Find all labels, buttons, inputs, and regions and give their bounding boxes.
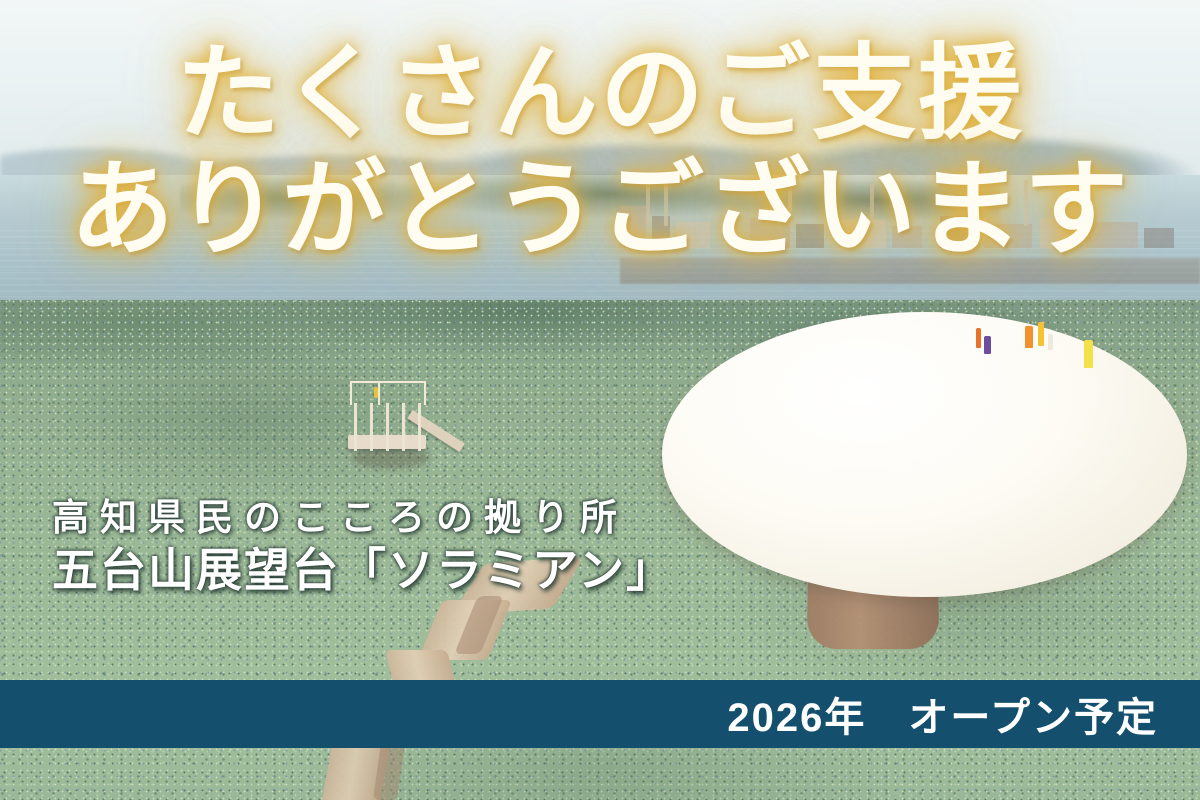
subtitle-line-1: 高知県民のこころの拠り所 (52, 494, 674, 542)
headline-line-1: たくさんのご支援 (0, 36, 1200, 152)
opening-date-text: 2026年 オープン予定 (727, 685, 1158, 743)
visitor-figure (1084, 340, 1093, 368)
subtitle-line-2: 五台山展望台「ソラミアン」 (52, 542, 674, 598)
forest-viewing-platform (330, 375, 460, 480)
visitor-figure (984, 336, 991, 354)
poster-canvas: たくさんのご支援 ありがとうございます 高知県民のこころの拠り所 五台山展望台「… (0, 0, 1200, 800)
visitor-figure (1025, 326, 1033, 348)
opening-date-banner: 2026年 オープン予定 (0, 680, 1200, 748)
visitor-figure (976, 328, 981, 348)
headline-line-2: ありがとうございます (0, 152, 1200, 268)
subtitle-block: 高知県民のこころの拠り所 五台山展望台「ソラミアン」 (52, 494, 674, 598)
soramian-observation-deck (640, 300, 1200, 660)
visitor-figure (1038, 322, 1044, 346)
deck-top-surface (662, 312, 1187, 597)
visitor-figure (1048, 334, 1053, 350)
page-title: たくさんのご支援 ありがとうございます (0, 36, 1200, 269)
